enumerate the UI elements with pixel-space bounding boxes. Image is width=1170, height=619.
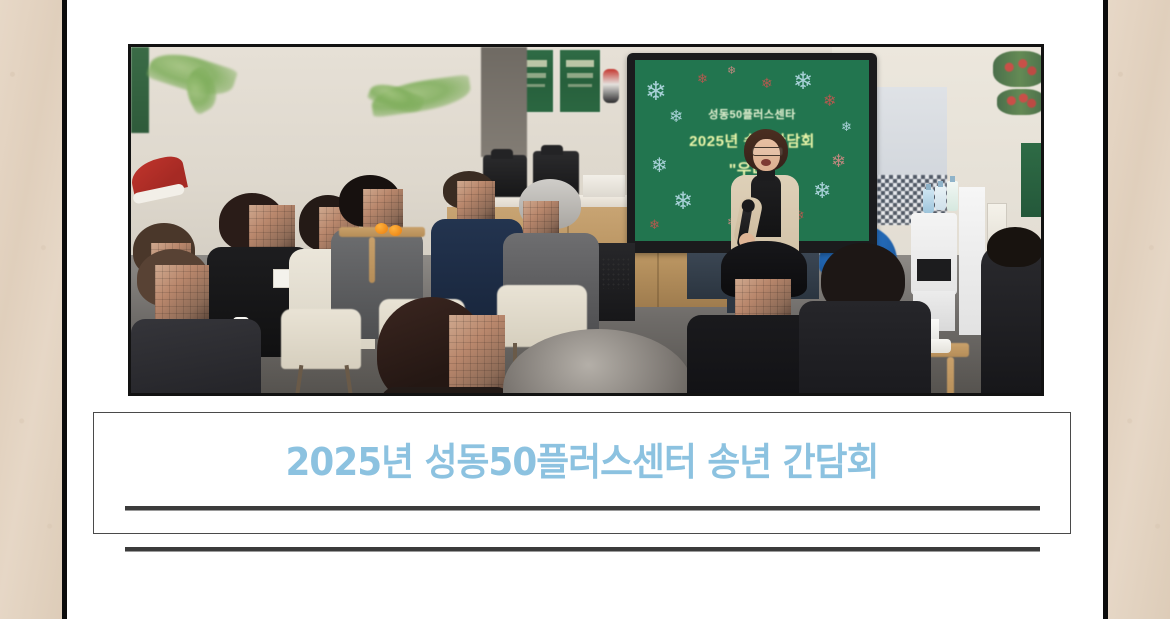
glasses-icon [752,147,783,156]
christmas-wreath-icon [993,51,1041,87]
audience-torso [131,319,261,393]
sanitizer-bottle [935,186,946,210]
audience-torso [381,387,511,393]
audience-hair [987,227,1041,267]
audience-face [449,315,505,393]
table-leg [947,357,954,393]
slide-line-1: 성동50플러스센타 [635,106,869,122]
santa-ornament-icon [603,69,619,103]
event-photo: ❄ ❄ ❄ ❄ ❄ ❄ ❄ ❄ ❄ ❄ ❄ ❄ ❄ ❄ ❄ 성동50플러스센타 [128,44,1044,396]
presenter-mouth [761,159,771,166]
mandarin-orange [375,223,388,234]
water-dispenser [911,213,957,295]
audience-torso [799,301,931,393]
caption-box: 2025년 성동50플러스센터 송년 간담회 [93,412,1071,534]
mandarin-orange [389,225,402,236]
page-gutter-right [1108,0,1170,619]
wall-poster [559,49,601,113]
photo-scene: ❄ ❄ ❄ ❄ ❄ ❄ ❄ ❄ ❄ ❄ ❄ ❄ ❄ ❄ ❄ 성동50플러스센타 [131,47,1041,393]
document-page: ❄ ❄ ❄ ❄ ❄ ❄ ❄ ❄ ❄ ❄ ❄ ❄ ❄ ❄ ❄ 성동50플러스센타 [0,0,1170,619]
sanitizer-bottle [923,189,934,213]
page-edge-rule-left [62,0,67,619]
bottom-divider-rule [125,547,1040,552]
audience-torso [981,245,1041,393]
green-notice-board [1021,143,1041,217]
green-banner [131,47,149,133]
chair [281,309,361,369]
paper-cups [583,175,625,197]
wall-column [481,47,527,157]
sanitizer-bottle [947,181,958,211]
christmas-wreath-icon [997,89,1041,115]
page-title: 2025년 성동50플러스센터 송년 간담회 [123,431,1040,486]
caption-divider-rule [125,506,1040,511]
page-gutter-left [0,0,62,619]
page-edge-rule-right [1103,0,1108,619]
table-leg [369,237,375,283]
av-speaker-box [595,243,635,321]
